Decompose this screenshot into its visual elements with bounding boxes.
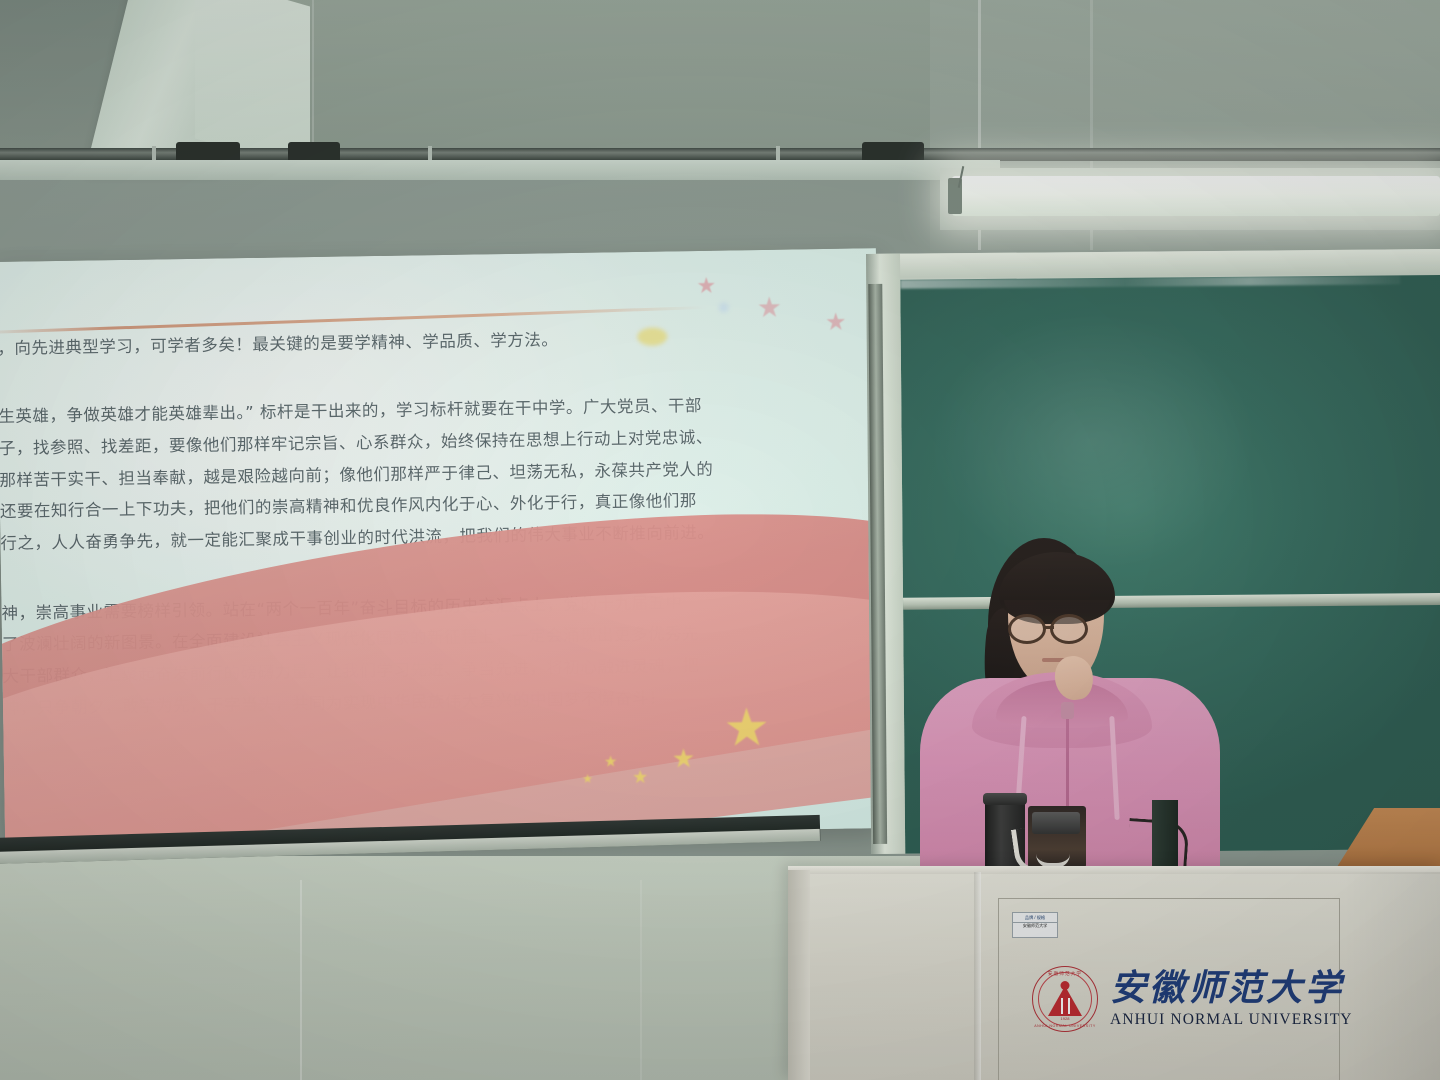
slide-p2-line: 标杆还要在知行合一上下功夫，把他们的崇高精神和优良作风内化于心、外化于行，真正像…	[0, 491, 697, 521]
university-seal-icon: 安徽师范大学 1928 ANHUI NORMAL UNIVERSITY	[1032, 966, 1098, 1032]
flag-star-icon: ★	[582, 773, 593, 785]
seal-english-text: ANHUI NORMAL UNIVERSITY	[1034, 1024, 1096, 1028]
thermos-lid[interactable]	[983, 793, 1027, 805]
seal-figure-slit	[1061, 998, 1063, 1014]
presentation-slide: ★ ★ ★ 指出，向先进典型学习，可学者多矣！最关键的是要学精神、学品质、学方法…	[0, 248, 885, 842]
seal-figure-body	[1048, 986, 1082, 1016]
glasses-lens-left	[1008, 614, 1046, 644]
slide-p2-line: 他们那样苦干实干、担当奉献，越是艰险越向前；像他们那样严于律己、坦荡无私，永葆共…	[0, 459, 713, 490]
lower-wall-seam	[640, 880, 642, 1080]
podium-top-edge	[788, 866, 1440, 874]
decor-star-icon: ★	[757, 294, 783, 322]
ceiling-soffit	[230, 0, 930, 152]
podium-left-edge	[788, 870, 810, 1080]
flag-star-icon: ★	[632, 768, 648, 786]
lower-wall-seam	[300, 880, 302, 1080]
asset-sticker-line2: 安徽师范大学	[1013, 922, 1057, 928]
decor-star-icon: ★	[696, 275, 716, 297]
seal-founding-year: 1928	[1061, 1016, 1070, 1021]
asset-sticker-line1: 品牌 / 规格	[1013, 915, 1057, 920]
university-name-cn: 安徽师范大学	[1110, 970, 1353, 1006]
projection-screen: ★ ★ ★ 指出，向先进典型学习，可学者多矣！最关键的是要学精神、学品质、学方法…	[0, 248, 885, 842]
ceiling-seam	[312, 0, 314, 150]
flag-star-icon: ★	[672, 745, 696, 771]
glasses-lens-right	[1050, 614, 1088, 644]
slide-paragraph-1: 指出，向先进典型学习，可学者多矣！最关键的是要学精神、学品质、学方法。	[0, 327, 841, 358]
dark-fixture	[1152, 800, 1178, 870]
slide-p2-line: 为镜子，找参照、找差距，要像他们那样牢记宗旨、心系群众，始终保持在思想上行动上对…	[0, 428, 713, 459]
university-name-en: ANHUI NORMAL UNIVERSITY	[1110, 1011, 1353, 1029]
hoodie-zipper-pull	[1061, 702, 1074, 719]
podium-fold-line	[974, 872, 981, 1080]
fluorescent-tube-light	[952, 176, 1440, 216]
university-name-block: 安徽师范大学 ANHUI NORMAL UNIVERSITY	[1110, 970, 1353, 1029]
screen-rail-ledge	[0, 160, 1000, 180]
podium-shading	[1344, 872, 1440, 1080]
white-cable-loop	[1036, 846, 1070, 868]
lectern-podium: 品牌 / 规格 安徽师范大学 安徽师范大学 1928 ANHUI NORMAL …	[788, 866, 1440, 1080]
flag-star-icon: ★	[723, 702, 770, 755]
seal-figure-slit	[1068, 998, 1070, 1014]
classroom-photo-scene: ★ ★ ★ 指出，向先进典型学习，可学者多矣！最关键的是要学精神、学品质、学方法…	[0, 0, 1440, 1080]
glasses-bridge	[1044, 626, 1054, 629]
decor-dot	[719, 302, 729, 312]
microphone-knob[interactable]	[1032, 812, 1080, 834]
flag-star-icon: ★	[604, 754, 618, 769]
glasses-icon	[1006, 614, 1106, 644]
asset-inventory-sticker: 品牌 / 规格 安徽师范大学	[1012, 912, 1058, 938]
university-logo: 安徽师范大学 1928 ANHUI NORMAL UNIVERSITY 安徽师范…	[1032, 966, 1353, 1032]
seal-chinese-text: 安徽师范大学	[1048, 971, 1082, 977]
slide-p2-line: 会产生英雄，争做英雄才能英雄辈出。” 标杆是干出来的，学习标杆就要在干中学。广大…	[0, 396, 702, 427]
